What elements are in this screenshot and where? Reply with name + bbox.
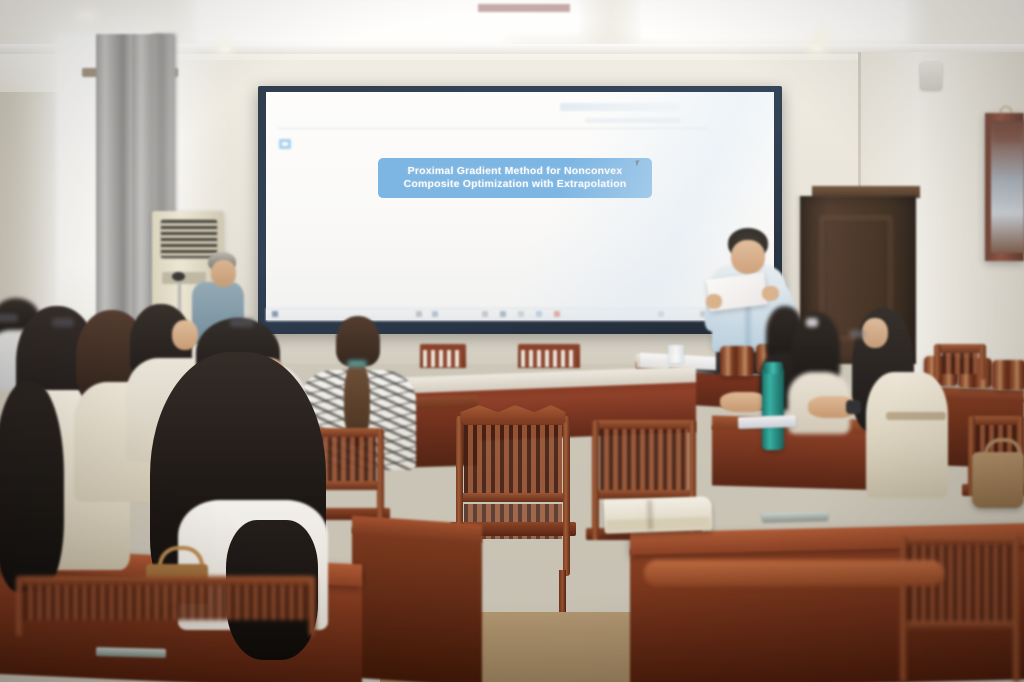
thermos-cap[interactable] [763,362,783,374]
downlight-5 [812,44,823,51]
slide-toolbar-ghost-2 [585,118,681,123]
taskbar-icon-1[interactable] [416,311,422,317]
ceiling-light-panel-right [640,0,906,40]
chair-foreground-right[interactable] [900,536,1020,682]
taskbar-icon-3[interactable] [482,311,488,317]
taskbar-icon-7[interactable] [554,311,560,317]
chair-back-behind-table-2 [518,344,580,368]
presenter-left-hand [706,294,722,309]
handbag[interactable] [972,452,1024,508]
attendee-right-3-dress [866,372,948,498]
smart-display-screen[interactable] [266,92,774,320]
attendee-ponytail-head-hair [336,316,380,366]
chair-foreground-left[interactable] [16,576,316,636]
attendee-left-1-glasses-icon [0,314,18,322]
attendee-right-1-arm [720,392,764,412]
thermos-flask[interactable] [762,368,784,450]
attendee-foreground-left-hair [0,382,64,592]
downlight-6 [818,32,827,38]
taskbar-start-icon[interactable] [272,311,278,317]
air-conditioner-grille [160,219,218,259]
wall-speaker [920,62,942,90]
smartphone-on-desk[interactable] [762,511,828,522]
slide-toolbar-ghost [560,103,680,111]
attendee-left-2-glasses-icon [52,318,74,327]
ceiling-light-panel-left [196,0,502,42]
chair-far-right[interactable] [934,344,986,380]
attendee-right-2-hair-clip [806,318,818,327]
slide-title-text: Proximal Gradient Method for Nonconvex C… [404,165,627,192]
downlight-2 [220,46,230,52]
standing-attendee-head [211,260,236,287]
attendee-left-5-glasses-icon [230,318,254,327]
tucked-chair-roll-1[interactable] [720,346,754,376]
tucked-chair-roll-5[interactable] [992,360,1024,390]
slide-title-line-2: Composite Optimization with Extrapolatio… [404,178,627,190]
presenter-right-hand [762,286,779,301]
hair-tie [347,360,367,367]
seminar-room-photo: Proximal Gradient Method for Nonconvex C… [0,0,1024,682]
taskbar-icon-6[interactable] [536,311,542,317]
foreground-bench-armrest [644,560,944,586]
notebook-stack[interactable] [738,415,796,429]
attendee-right-3-glasses-icon [849,330,865,338]
attendee-right-3-belt [886,412,946,420]
taskbar-icon-4[interactable] [500,311,506,317]
microphone-icon [172,272,185,281]
smartphone-foreground[interactable] [96,647,166,658]
taskbar-icon-2[interactable] [432,311,438,317]
downlight-1 [78,12,94,21]
taskbar-icon-5[interactable] [518,311,524,317]
attendee-left-4-face [172,320,198,350]
slide-ruler-line [278,128,708,129]
presenter-head [731,240,765,274]
wrist-watch [846,400,861,414]
ceiling-vent [478,4,570,12]
framed-picture-caption [993,127,1022,143]
slide-title-box: Proximal Gradient Method for Nonconvex C… [378,158,652,198]
foreground-mid-desk-body [352,527,482,682]
water-glass [668,345,684,363]
slide-media-placeholder-icon [279,139,291,149]
slide-title-line-1: Proximal Gradient Method for Nonconvex [408,165,623,177]
desk-front-carving [460,405,566,423]
attendee-right-3-face [862,318,888,348]
taskbar-icon-8[interactable] [658,311,664,317]
chair-back-behind-table-1 [420,344,466,368]
